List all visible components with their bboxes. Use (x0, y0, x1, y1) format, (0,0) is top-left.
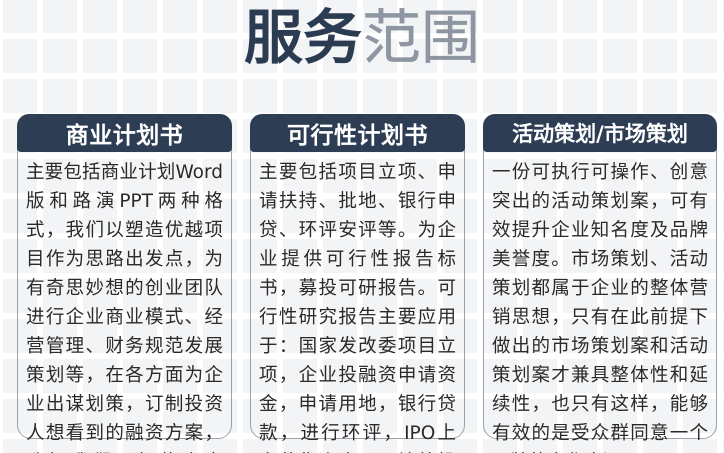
page-title-light: 范围 (362, 8, 480, 67)
service-card-feasibility-plan[interactable]: 可行性计划书 主要包括项目立项、申请扶持、批地、银行申贷、环评安评等。为企业提供… (250, 114, 465, 439)
card-description-event-marketing-plan: 一份可执行可操作、创意突出的活动策划案，可有效提升企业知名度及品牌美誉度。市场策… (492, 158, 708, 453)
card-title-event-marketing-plan: 活动策划/市场策划 (483, 114, 717, 152)
page-title-strong: 服务 (244, 3, 362, 72)
card-title-feasibility-plan: 可行性计划书 (250, 114, 465, 152)
service-card-business-plan[interactable]: 商业计划书 主要包括商业计划Word版和路演PPT两种格式，我们以塑造优越项目作… (17, 114, 232, 439)
service-card-event-marketing-plan[interactable]: 活动策划/市场策划 一份可执行可操作、创意突出的活动策划案，可有效提升企业知名度… (483, 114, 717, 439)
card-description-feasibility-plan: 主要包括项目立项、申请扶持、批地、银行申贷、环评安评等。为企业提供可行性报告标书… (259, 158, 456, 453)
page-title: 服务范围 (0, 8, 724, 67)
service-card-list: 商业计划书 主要包括商业计划Word版和路演PPT两种格式，我们以塑造优越项目作… (17, 114, 717, 439)
card-title-business-plan: 商业计划书 (17, 114, 232, 152)
service-scope-page: 服务范围 商业计划书 主要包括商业计划Word版和路演PPT两种格式，我们以塑造… (0, 0, 724, 453)
card-description-business-plan: 主要包括商业计划Word版和路演PPT两种格式，我们以塑造优越项目作为思路出发点… (26, 158, 223, 453)
